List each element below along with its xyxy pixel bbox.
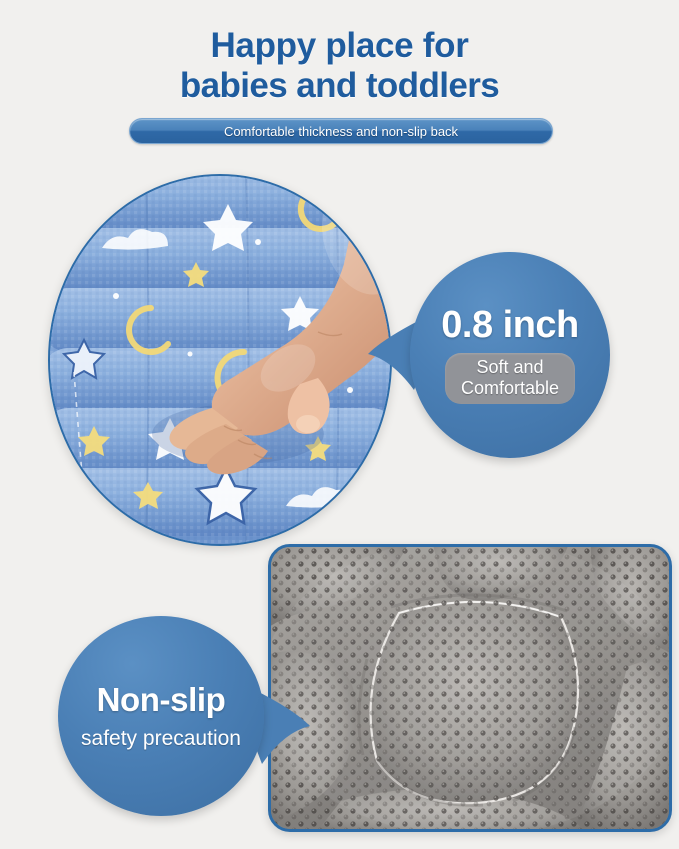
gray-dotted-backing-illustration (271, 547, 669, 829)
product-feature-graphic: Happy place for babies and toddlers Comf… (0, 0, 679, 849)
thickness-callout-badge: 0.8 inch Soft and Comfortable (410, 252, 610, 458)
thickness-caption-line-1: Soft and (461, 357, 559, 377)
non-slip-badge-disc: Non-slip safety precaution (58, 616, 264, 816)
thickness-badge-disc: 0.8 inch Soft and Comfortable (410, 252, 610, 458)
thickness-photo (48, 174, 392, 546)
blue-mattress-illustration (50, 176, 390, 544)
non-slip-title: Non-slip (97, 683, 226, 716)
non-slip-photo (268, 544, 672, 832)
thickness-caption-pill: Soft and Comfortable (445, 353, 575, 403)
thickness-caption-line-2: Comfortable (461, 378, 559, 398)
headline-line-1: Happy place for (0, 26, 679, 66)
subtitle-banner: Comfortable thickness and non-slip back (129, 118, 553, 144)
non-slip-callout-badge: Non-slip safety precaution (58, 616, 264, 816)
thickness-value: 0.8 inch (441, 306, 579, 344)
subtitle-text: Comfortable thickness and non-slip back (224, 124, 458, 139)
non-slip-caption: safety precaution (81, 728, 241, 749)
page-title: Happy place for babies and toddlers (0, 26, 679, 107)
headline-line-2: babies and toddlers (0, 66, 679, 106)
